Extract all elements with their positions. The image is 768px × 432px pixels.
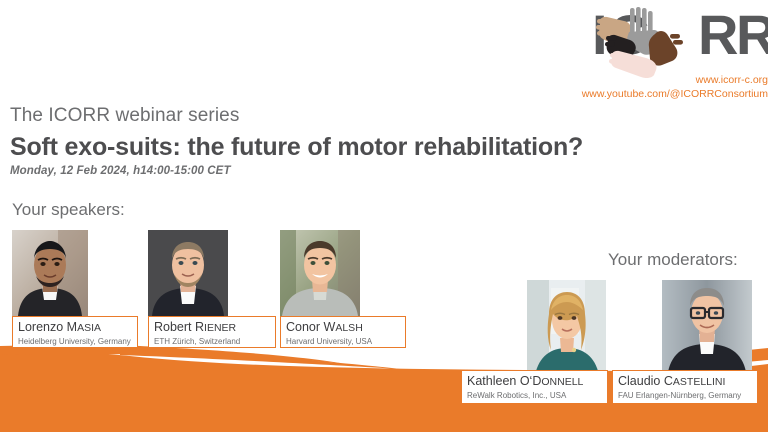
speaker-namebox-2: Conor WALSH Harvard University, USA [280,316,406,348]
moderator-photo-0 [527,280,606,375]
moderator-surname-rest-0: ONNELL [541,376,583,388]
webinar-datetime: Monday, 12 Feb 2024, h14:00-15:00 CET [10,165,231,177]
moderator-firstname-1: Claudio [618,374,660,388]
moderator-surname-lead-1: C [664,374,673,388]
speakers-heading: Your speakers: [12,200,125,220]
speaker-photo-1 [148,230,228,316]
speaker-photo-0 [12,230,88,316]
speaker-firstname-0: Lorenzo [18,320,63,334]
speaker-surname-rest-1: IENER [204,322,236,334]
moderator-name-1: Claudio CASTELLINI [618,374,752,390]
speaker-namebox-0: Lorenzo MASIA Heidelberg University, Ger… [12,316,138,348]
speaker-name-2: Conor WALSH [286,320,400,336]
speaker-affiliation-2: Harvard University, USA [286,337,400,347]
speaker-name-1: Robert RIENER [154,320,270,336]
speaker-namebox-1: Robert RIENER ETH Zürich, Switzerland [148,316,276,348]
speaker-photo-2 [280,230,360,316]
portrait-conor-walsh [280,230,360,316]
slide-canvas: I C R R [0,0,768,432]
portrait-claudio-castellini [662,280,752,372]
clasped-hands-icon [594,6,686,78]
portrait-kathleen-odonnell [527,280,606,375]
portrait-robert-riener [148,230,228,316]
speaker-surname-lead-2: W [324,320,336,334]
moderators-heading: Your moderators: [608,250,738,270]
moderator-photo-1 [662,280,752,372]
moderator-name-0: Kathleen O‘DONNELL [467,374,602,390]
speaker-surname-rest-0: ASIA [77,322,101,334]
speaker-surname-lead-1: R [195,320,204,334]
speaker-affiliation-0: Heidelberg University, Germany [18,337,132,347]
page-title: Soft exo-suits: the future of motor reha… [10,133,583,162]
moderator-namebox-1: Claudio CASTELLINI FAU Erlangen-Nürnberg… [612,370,758,404]
speaker-name-0: Lorenzo MASIA [18,320,132,336]
logo-letter-r1: R [698,4,738,66]
webinar-series-label: The ICORR webinar series [10,105,239,127]
moderator-surname-rest-1: ASTELLINI [673,376,726,388]
speaker-firstname-1: Robert [154,320,192,334]
moderator-affiliation-1: FAU Erlangen-Nürnberg, Germany [618,391,752,401]
speaker-firstname-2: Conor [286,320,320,334]
logo-letter-r2: R [736,4,768,66]
moderator-surname-lead-0: D [532,374,541,388]
website-url[interactable]: www.icorr-c.org [583,74,768,86]
speaker-surname-rest-2: ALSH [335,322,362,334]
moderator-firstname-0: Kathleen O‘ [467,374,532,388]
moderator-namebox-0: Kathleen O‘DONNELL ReWalk Robotics, Inc.… [461,370,608,404]
youtube-url[interactable]: www.youtube.com/@ICORRConsortium [540,88,768,100]
speaker-surname-lead-0: M [67,320,77,334]
portrait-lorenzo-masia [12,230,88,316]
moderator-affiliation-0: ReWalk Robotics, Inc., USA [467,391,602,401]
speaker-affiliation-1: ETH Zürich, Switzerland [154,337,270,347]
